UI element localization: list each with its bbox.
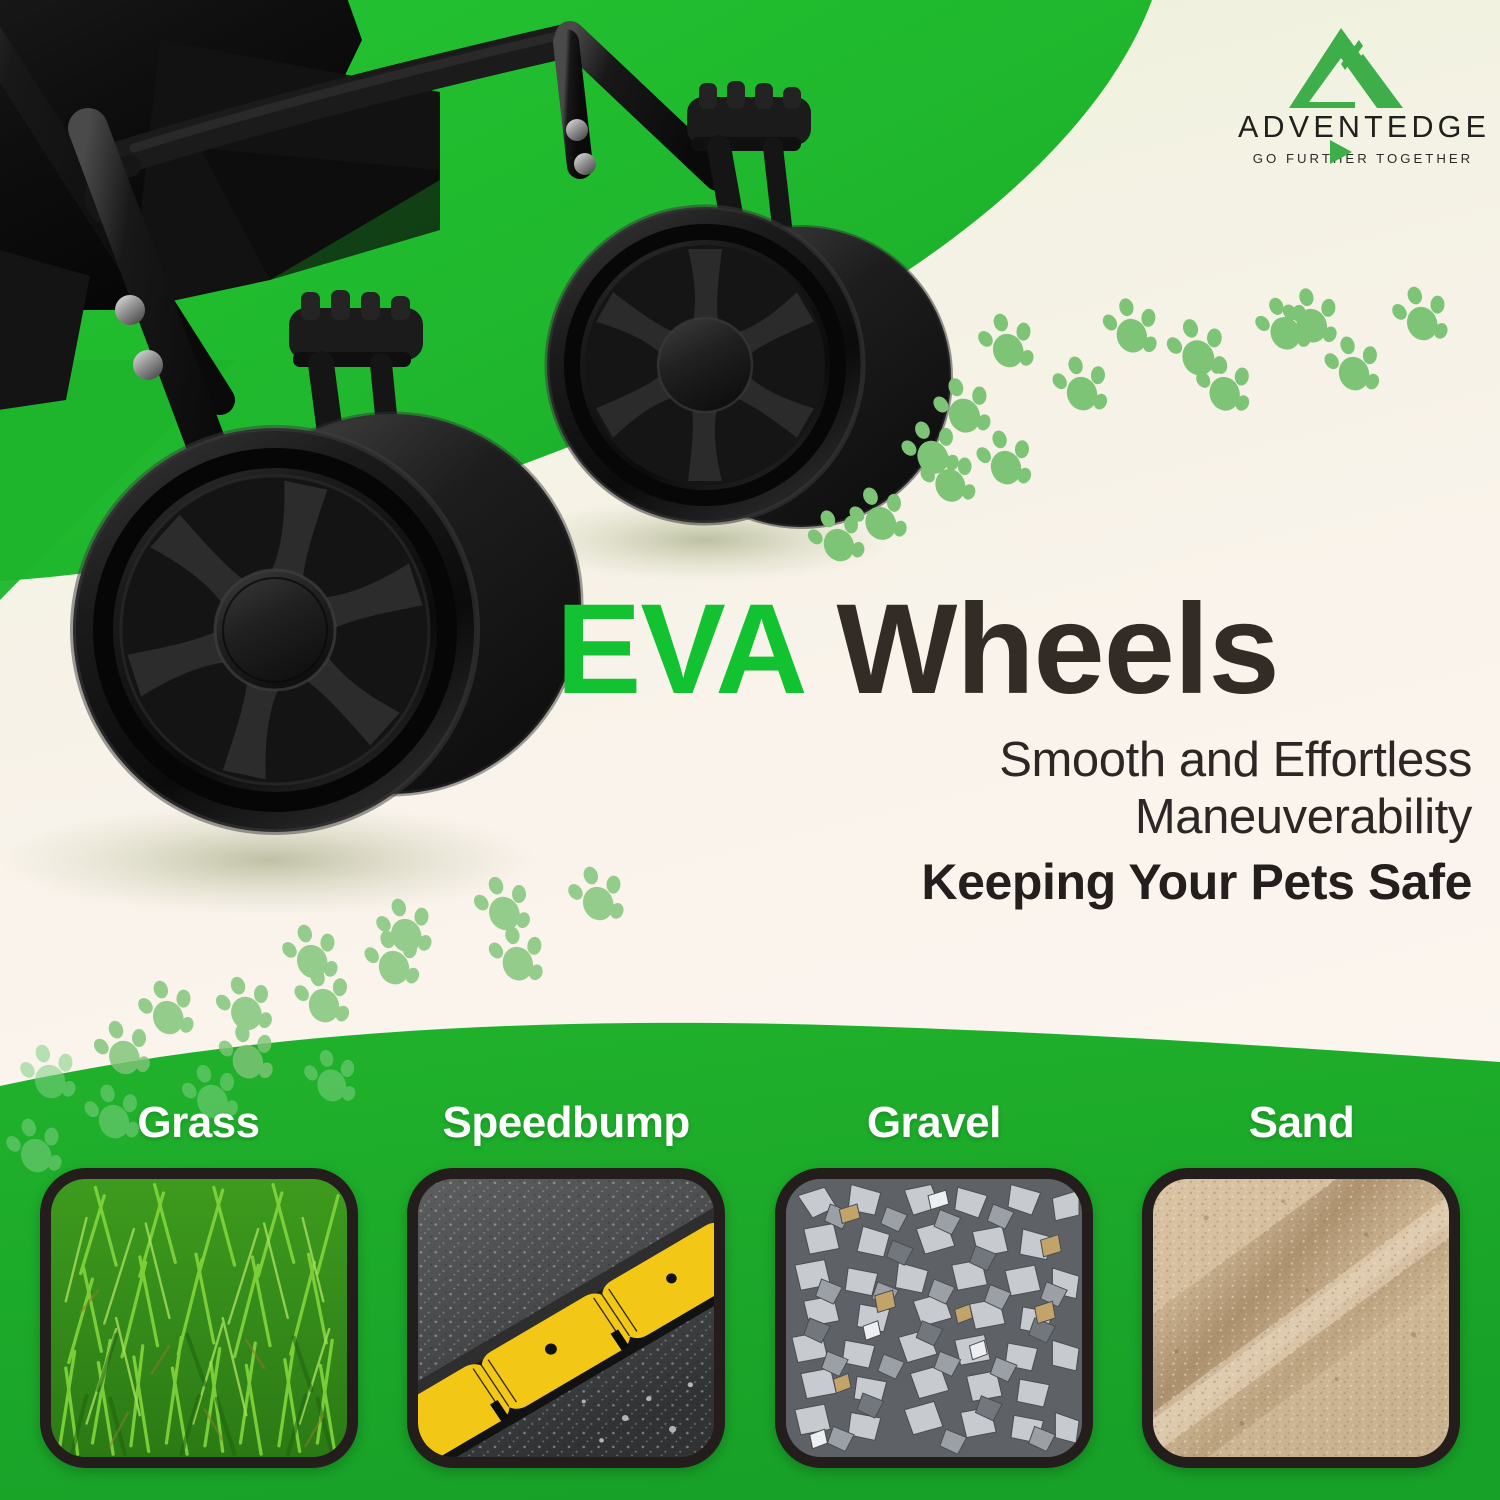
terrain-section: Grass <box>0 1070 1500 1500</box>
page-title: EVA Wheels <box>556 586 1476 714</box>
brand-wordmark: ADVENTEDGE <box>1238 112 1488 143</box>
subtitle-block: Smooth and Effortless Maneuverability Ke… <box>556 732 1476 912</box>
caster-wheel-rear <box>547 81 951 527</box>
headline-rest: Wheels <box>837 578 1279 721</box>
product-marketing-image: ADVENTEDGE GO FURTHER TOGETHER EVA Wheel… <box>0 0 1500 1500</box>
subtitle-bold: Keeping Your Pets Safe <box>556 852 1472 912</box>
sand-texture-thumbnail <box>1142 1168 1460 1468</box>
subtitle-line-1: Smooth and Effortless <box>556 732 1472 789</box>
terrain-item-speedbump: Speedbump <box>394 1070 739 1500</box>
terrain-label: Grass <box>137 1098 259 1148</box>
terrain-label: Speedbump <box>443 1098 690 1148</box>
terrain-item-grass: Grass <box>26 1070 371 1500</box>
mountain-a-logo-icon <box>1238 24 1488 110</box>
terrain-label: Gravel <box>867 1098 1001 1148</box>
brand-logo: ADVENTEDGE GO FURTHER TOGETHER <box>1238 24 1488 184</box>
terrain-label: Sand <box>1249 1098 1355 1148</box>
speedbump-asphalt-thumbnail <box>407 1168 725 1468</box>
play-triangle-icon <box>1330 140 1352 164</box>
gravel-stones-thumbnail <box>775 1168 1093 1468</box>
grass-texture-thumbnail <box>40 1168 358 1468</box>
brand-tagline: GO FURTHER TOGETHER <box>1238 146 1488 172</box>
headline-accent: EVA <box>556 578 802 721</box>
terrain-item-sand: Sand <box>1129 1070 1474 1500</box>
subtitle-line-2: Maneuverability <box>556 789 1472 846</box>
headline-block: EVA Wheels Smooth and Effortless Maneuve… <box>556 586 1476 912</box>
terrain-item-gravel: Gravel <box>761 1070 1106 1500</box>
